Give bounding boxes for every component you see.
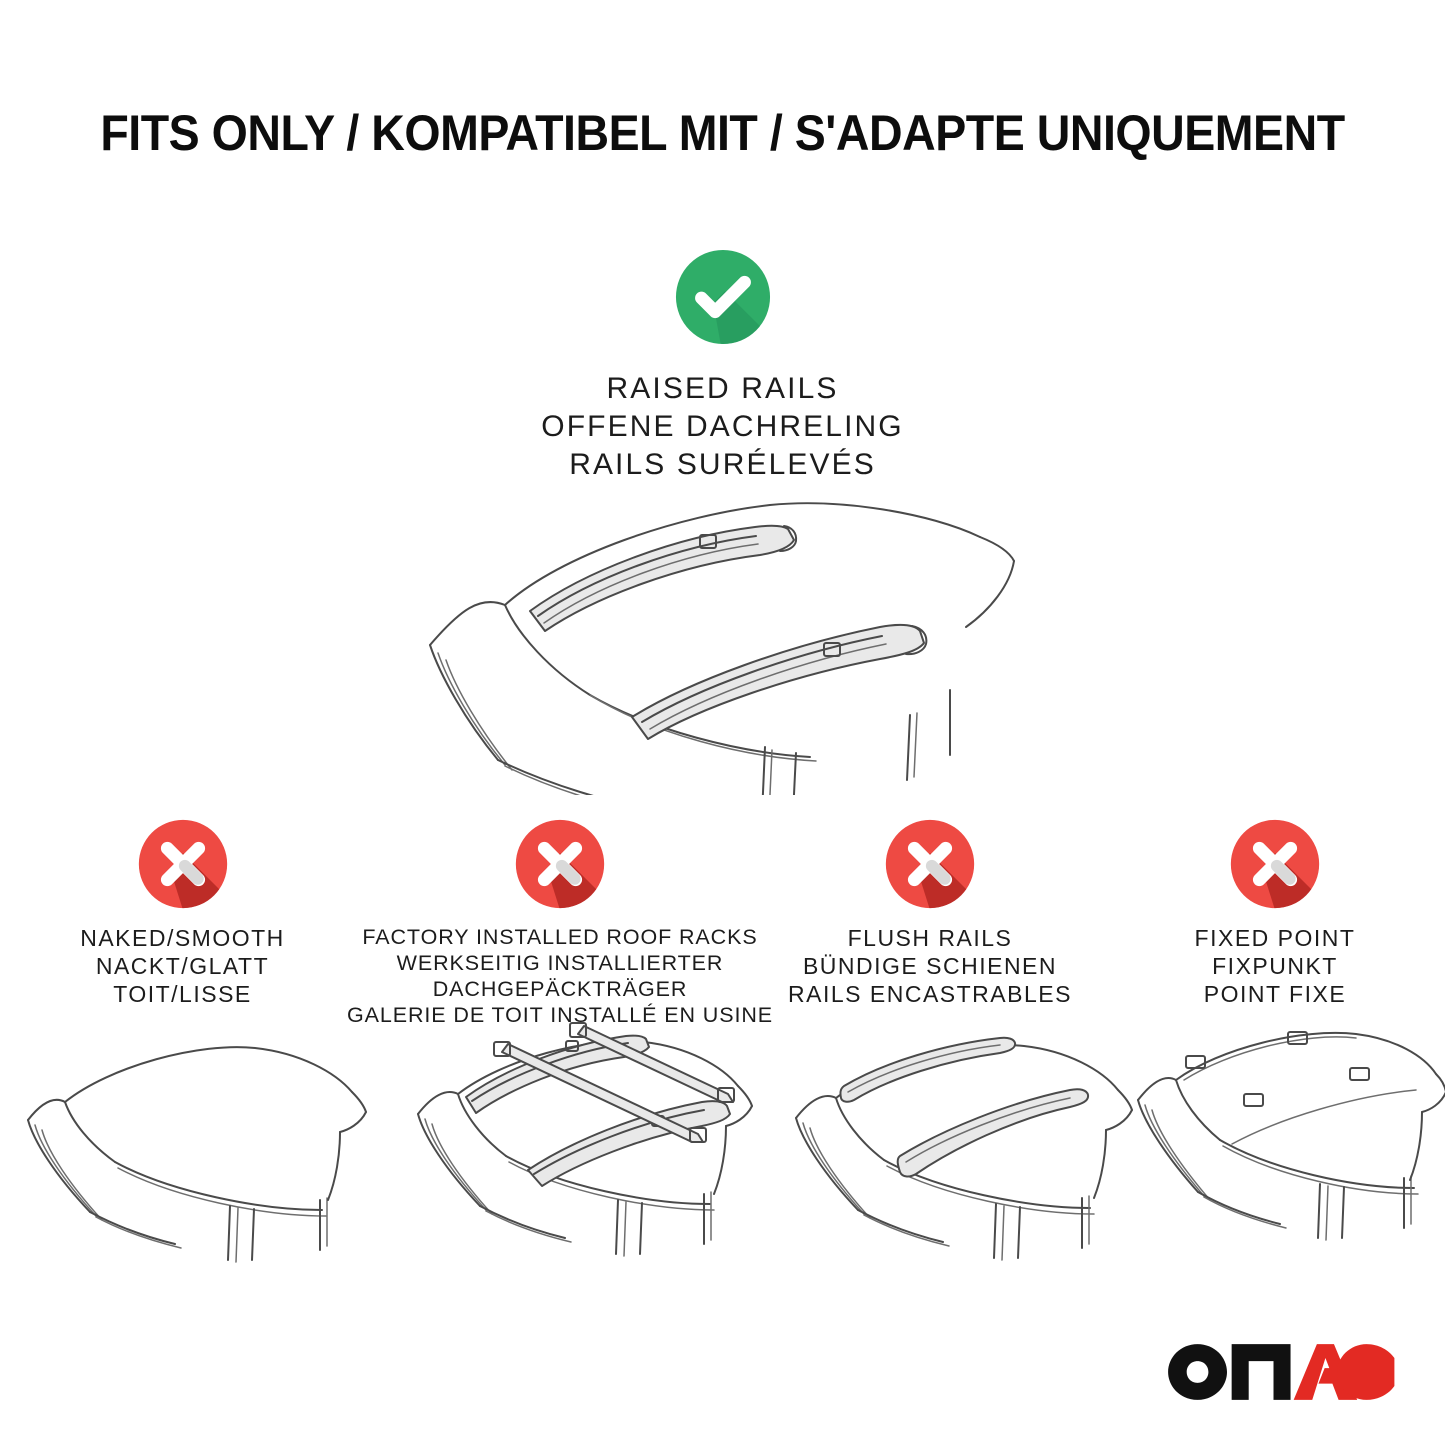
compatible-labels: RAISED RAILS OFFENE DACHRELING RAILS SUR…: [541, 370, 903, 484]
omac-logo: [1165, 1341, 1398, 1403]
incompatible-1-label-en: NAKED/SMOOTH: [80, 924, 285, 952]
naked-smooth-roof-sketch: [10, 1020, 390, 1285]
incompatible-labels-2: FACTORY INSTALLED ROOF RACKS WERKSEITIG …: [347, 924, 773, 1028]
incompatible-1-label-fr: TOIT/LISSE: [80, 980, 285, 1008]
green-check-circle-icon: [674, 248, 772, 346]
incompatible-4-label-de: FIXPUNKT: [1195, 952, 1356, 980]
fixed-point-roof-sketch: [1128, 1018, 1445, 1283]
logo-letter-o: [1168, 1344, 1227, 1400]
incompatible-3-label-fr: RAILS ENCASTRABLES: [788, 980, 1072, 1008]
red-x-circle-icon: [1229, 818, 1321, 910]
incompatible-2-label-de-2: DACHGEPÄCKTRÄGER: [347, 976, 773, 1002]
page-title: FITS ONLY / KOMPATIBEL MIT / S'ADAPTE UN…: [51, 104, 1395, 162]
incompatible-1-label-de: NACKT/GLATT: [80, 952, 285, 980]
compatible-block: RAISED RAILS OFFENE DACHRELING RAILS SUR…: [0, 248, 1445, 484]
incompatible-2-label-de-1: WERKSEITIG INSTALLIERTER: [347, 950, 773, 976]
compatible-label-fr: RAILS SURÉLEVÉS: [541, 446, 903, 484]
incompatible-4-label-en: FIXED POINT: [1195, 924, 1356, 952]
red-x-circle-icon: [884, 818, 976, 910]
factory-roof-rack-sketch: [398, 1018, 778, 1283]
raised-rails-roof-sketch: [410, 485, 1030, 795]
incompatible-labels-3: FLUSH RAILS BÜNDIGE SCHIENEN RAILS ENCAS…: [788, 924, 1072, 1008]
incompatible-3-label-de: BÜNDIGE SCHIENEN: [788, 952, 1072, 980]
red-x-circle-icon: [137, 818, 229, 910]
incompatible-3-label-en: FLUSH RAILS: [788, 924, 1072, 952]
incompatible-labels-1: NAKED/SMOOTH NACKT/GLATT TOIT/LISSE: [80, 924, 285, 1008]
compatible-label-de: OFFENE DACHRELING: [541, 408, 903, 446]
flush-rails-roof-sketch: [778, 1020, 1158, 1285]
incompatible-4-label-fr: POINT FIXE: [1195, 980, 1356, 1008]
compatible-label-en: RAISED RAILS: [541, 370, 903, 408]
red-x-circle-icon: [514, 818, 606, 910]
incompatible-2-label-en: FACTORY INSTALLED ROOF RACKS: [347, 924, 773, 950]
incompatible-labels-4: FIXED POINT FIXPUNKT POINT FIXE: [1195, 924, 1356, 1008]
logo-letter-m: [1231, 1344, 1290, 1400]
